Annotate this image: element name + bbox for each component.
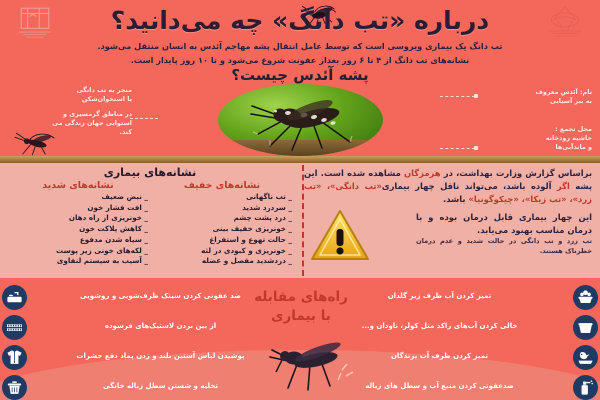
list-item[interactable]: ضدعفونی کردن منبع آب و سطل های زباله [306, 372, 598, 400]
list-item[interactable]: پوشیدن لباس آستین بلند و زدن پماد دفع حش… [2, 342, 294, 372]
callout-dot-1 [474, 94, 478, 98]
list-item: _ آسیب به سیستم لنفاوی [6, 256, 150, 267]
potted-plant-icon [573, 285, 598, 310]
callout-name-line1: نام: آئدس معروف [476, 88, 592, 97]
symptoms-mild-heading: نشانه‌های خفیف [150, 180, 294, 191]
callout-connector-1 [440, 96, 475, 97]
report-text-column: براساس گزارش وزارت بهداشت، در هرمزگان مش… [300, 163, 600, 278]
intro-text: تب دانگ یک بیماری ویروسی است که توسط عام… [0, 39, 600, 67]
symptoms-title: نشانه‌های بیماری [0, 163, 300, 179]
prevention-text: تخلیه و شستن سطل زباله خانگی [27, 382, 294, 392]
intro-line-2: نشانه‌های تب دانگ از ۴ تا ۶ روز بعداز عف… [0, 53, 600, 67]
prevention-title-line2: با بیماری [236, 307, 366, 326]
prevention-text: تمیز کردن ظرف آب پرندگان [306, 352, 573, 362]
information-band: براساس گزارش وزارت بهداشت، در هرمزگان مش… [0, 163, 600, 278]
tire-icon [2, 315, 27, 340]
mosquito-illustration [218, 84, 383, 156]
list-item: _ دردشدید مفصل و عضله [150, 256, 294, 267]
callout-habitat: محل تجمع : حاشیه رودخانه و ماندآبی‌ها [476, 125, 592, 152]
aedes-mosquito-photo [218, 84, 383, 156]
list-item: _ سیاه شدن مدفوع [6, 235, 150, 246]
page-title: درباره «تب دانگ» چه می‌دانید؟ [0, 6, 600, 35]
sink-icon [2, 285, 27, 310]
report-p1-pre: براساس گزارش وزارت بهداشت، در [441, 168, 592, 178]
bird-bath-icon [573, 345, 598, 370]
symptoms-mild-column: نشانه‌های خفیف _ تب ناگهانی _ سردرد شدید… [150, 180, 294, 267]
symptoms-column: نشانه‌های بیماری نشانه‌های خفیف _ تب ناگ… [0, 163, 300, 278]
callout-disease-line1: منجر به تب دانگی [6, 86, 132, 95]
report-highlight-if: اگر [557, 181, 570, 191]
callout-region-line2: استوایی جهان زندگی می [6, 119, 132, 128]
callout-connector-3 [130, 118, 158, 119]
shirt-icon [2, 345, 27, 370]
prevention-title-line1: راه‌های مقابله [236, 288, 366, 307]
symptoms-severe-heading: نشانه‌های شدید [6, 180, 150, 191]
prevention-title: راه‌های مقابله با بیماری [236, 288, 366, 326]
callout-dot-2 [474, 146, 478, 150]
bucket-icon [573, 315, 598, 340]
prevention-text: ضدعفونی کردن منبع آب و سطل های زباله [306, 382, 573, 392]
decorative-mosquito-icon [10, 130, 58, 156]
list-item[interactable]: تخلیه و شستن سطل زباله خانگی [2, 372, 294, 400]
report-p1-mid2: آلوده باشد، می‌تواند ناقل چهار بیماری [382, 181, 557, 191]
trash-bin-icon [2, 375, 27, 400]
infographic-poster: درباره «تب دانگ» چه می‌دانید؟ تب دانگ یک… [0, 0, 600, 400]
list-item: _ خونریزی خفیف بینی [150, 224, 294, 235]
header-divider [0, 156, 600, 163]
list-item: _ سردرد شدید [150, 203, 294, 214]
spray-bottle-icon [573, 375, 598, 400]
symptoms-severe-column: نشانه‌های شدید _ نبض ضعیف _ افت فشار خون… [6, 180, 150, 267]
prevention-text: پوشیدن لباس آستین بلند و زدن پماد دفع حش… [27, 352, 294, 362]
callout-region-line1: در مناطق گرمسیری و [6, 110, 132, 119]
report-p1-end: باشد. [443, 194, 468, 204]
list-item[interactable]: تمیز کردن ظرف آب پرندگان [306, 342, 598, 372]
callout-name-line2: به ببر آسیایی [476, 97, 592, 106]
list-item: _ لکه‌های خونی زیر پوست [6, 246, 150, 257]
list-item: _ حالت تهوع و استفراغ [150, 235, 294, 246]
warning-triangle-icon [310, 209, 370, 263]
symptoms-columns: نشانه‌های خفیف _ تب ناگهانی _ سردرد شدید… [0, 179, 300, 267]
callout-habitat-line1: محل تجمع : [476, 125, 592, 134]
header-section: درباره «تب دانگ» چه می‌دانید؟ تب دانگ یک… [0, 0, 600, 156]
list-item: _ خونریزی و کبودی در لثه [150, 246, 294, 257]
callout-disease: منجر به تب دانگی یا استخوان‌شکن [6, 86, 132, 104]
list-item: _ درد پشت چشم [150, 213, 294, 224]
callout-habitat-line3: و ماندآبی‌ها [476, 143, 592, 152]
report-paragraph: براساس گزارش وزارت بهداشت، در هرمزگان مش… [304, 167, 592, 206]
list-item: _ نبض ضعیف [6, 192, 150, 203]
callout-connector-2 [440, 148, 475, 149]
list-item: _ خونریزی از راه دهان [6, 213, 150, 224]
list-item: _ تب ناگهانی [150, 192, 294, 203]
treatment-paragraph: این چهار بیماری قابل درمان بوده و با درم… [416, 211, 592, 237]
list-item: _ کاهش پلاکت خون [6, 224, 150, 235]
callout-habitat-line2: حاشیه رودخانه [476, 134, 592, 143]
callout-disease-line2: یا استخوان‌شکن [6, 95, 132, 104]
danger-note: تب زرد و تب دانگی در حالت شدید و عدم درم… [416, 237, 592, 256]
report-highlight-hormozgan: هرمزگان [404, 168, 441, 178]
callout-name: نام: آئدس معروف به ببر آسیایی [476, 88, 592, 106]
section-title-aedes: پشه آئدس چیست؟ [0, 66, 600, 84]
list-item: _ افت فشار خون [6, 203, 150, 214]
intro-line-1: تب دانگ یک بیماری ویروسی است که توسط عام… [0, 39, 600, 53]
